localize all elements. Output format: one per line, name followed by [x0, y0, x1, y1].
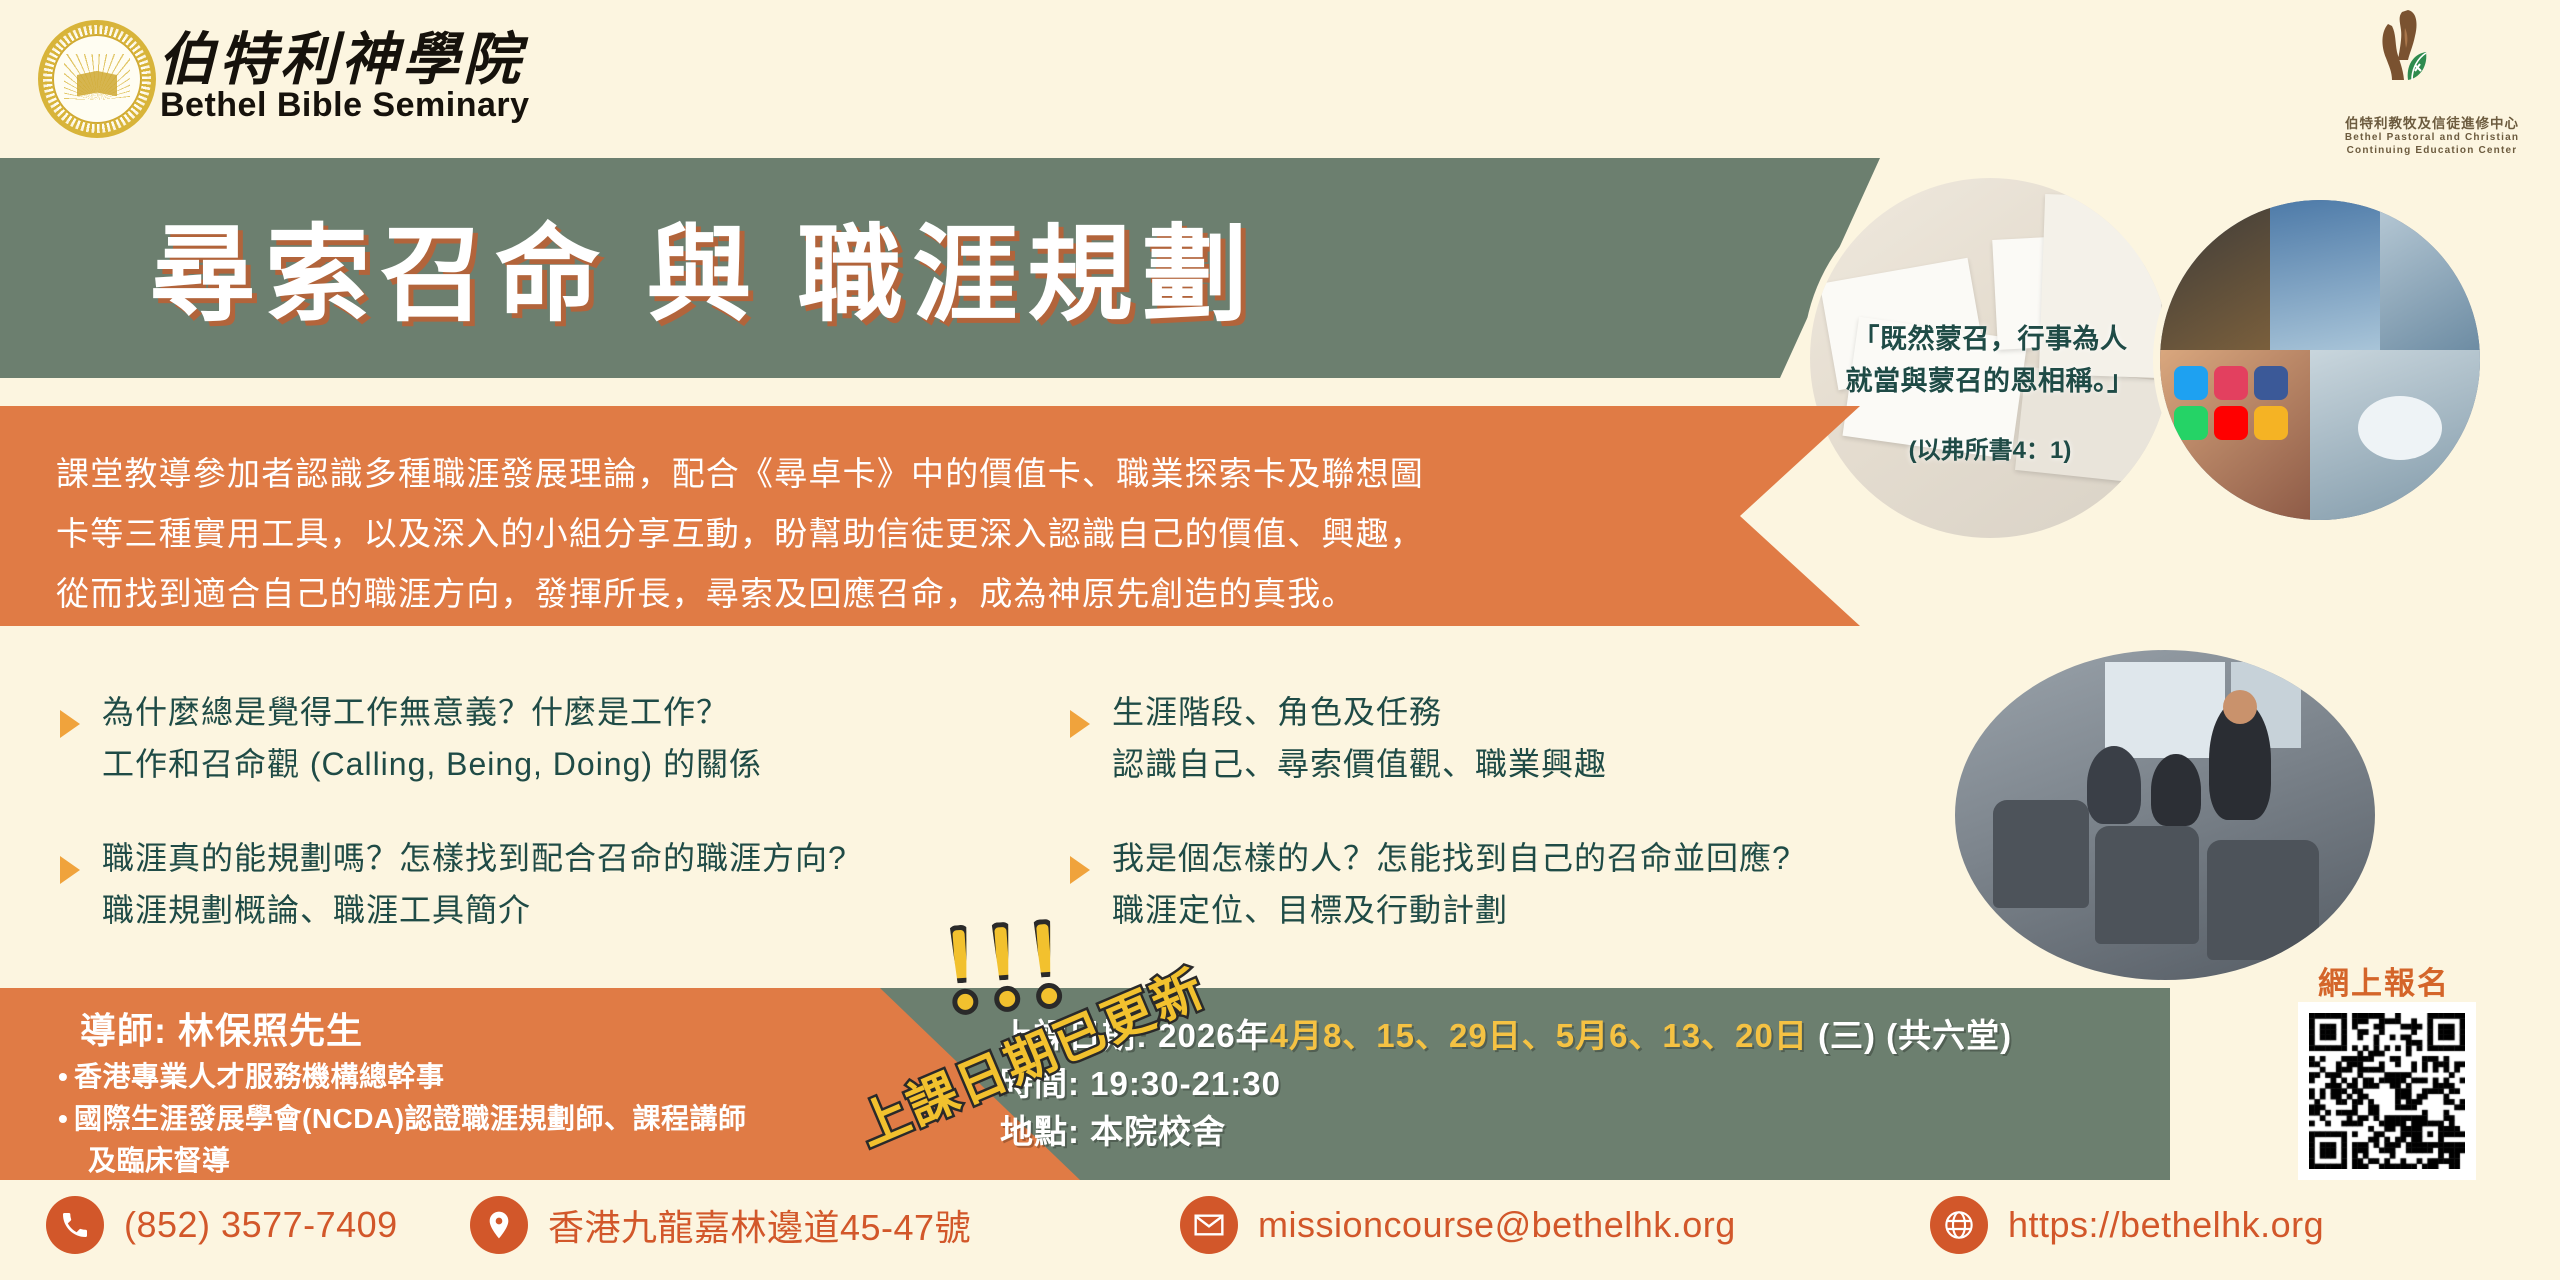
topic-text: 為什麼總是覺得工作無意義？什麼是工作？ 工作和召命觀 (Calling, Bei…: [102, 686, 762, 790]
phone-text: (852) 3577-7409: [124, 1204, 398, 1246]
collage-cell: [2160, 200, 2270, 350]
topic-line-2: 認識自己、尋索價值觀、職業興趣: [1112, 738, 1607, 790]
time-value: 19:30-21:30: [1090, 1065, 1281, 1102]
bible-seal-icon: [38, 20, 156, 138]
verse-line-1: 「既然蒙召，行事為人: [1810, 318, 2170, 360]
seal-book-icon: [77, 70, 117, 96]
topic-line-1: 為什麼總是覺得工作無意義？什麼是工作？: [102, 686, 762, 738]
verse-photo: 「既然蒙召，行事為人 就當與蒙召的恩相稱。」 (以弗所書4：1): [1810, 178, 2170, 538]
time-label: 時間:: [1000, 1065, 1080, 1102]
collage-icon: [2174, 406, 2208, 440]
schedule-time-row: 時間: 19:30-21:30: [1000, 1060, 2012, 1108]
header: 伯特利神學院 Bethel Bible Seminary 伯特利教牧及信徒進修中…: [0, 0, 2560, 158]
schedule-details: 上課日期: 2026年4月8、15、29日、5月6、13、20日 (三) (共六…: [1000, 1012, 2012, 1156]
topic-line-2: 工作和召命觀 (Calling, Being, Doing) 的關係: [102, 738, 762, 790]
topic-line-1: 生涯階段、角色及任務: [1112, 686, 1607, 738]
credential-item: •香港專業人才服務機構總幹事: [58, 1056, 747, 1098]
topic-line-1: 我是個怎樣的人？怎能找到自己的召命並回應?: [1112, 832, 1791, 884]
collage-icon: [2254, 366, 2288, 400]
contact-email[interactable]: missioncourse@bethelhk.org: [1180, 1196, 1736, 1254]
collage-shape: [2358, 396, 2442, 460]
collage-icon: [2254, 406, 2288, 440]
footer-contact-bar: (852) 3577-7409 香港九龍嘉林邊道45-47號 missionco…: [0, 1180, 2560, 1280]
description-text: 課堂教導參加者認識多種職涯發展理論，配合《尋卓卡》中的價值卡、職業探索卡及聯想圖…: [56, 444, 1756, 624]
description-line-3: 從而找到適合自己的職涯方向，發揮所長，尋索及回應召命，成為神原先創造的真我。: [56, 564, 1756, 624]
dot-bullet-icon: •: [58, 1056, 74, 1098]
chair-decor: [1993, 800, 2089, 908]
seal-rays: [64, 54, 130, 100]
website-text: https://bethelhk.org: [2008, 1204, 2324, 1246]
collage-cell: [2270, 200, 2380, 350]
credential-text: 國際生涯發展學會(NCDA)認證職涯規劃師、課程講師: [74, 1103, 747, 1134]
address-text: 香港九龍嘉林邊道45-47號: [548, 1199, 971, 1251]
topic-line-1: 職涯真的能規劃嗎？怎樣找到配合召命的職涯方向?: [102, 832, 847, 884]
centre-name-en-line2: Continuing Education Center: [2312, 145, 2552, 156]
page-title: 尋索召命 與 職涯規劃: [150, 190, 1258, 342]
date-suffix: (三) (共六堂): [1818, 1017, 2012, 1054]
hands-leaf-cross-icon: [2368, 8, 2432, 86]
triangle-bullet-icon: [1070, 710, 1090, 738]
verse-text: 「既然蒙召，行事為人 就當與蒙召的恩相稱。」: [1810, 318, 2170, 402]
schedule-date-row: 上課日期: 2026年4月8、15、29日、5月6、13、20日 (三) (共六…: [1000, 1012, 2012, 1060]
description-line-1: 課堂教導參加者認識多種職涯發展理論，配合《尋卓卡》中的價值卡、職業探索卡及聯想圖: [56, 444, 1756, 504]
centre-name-cn: 伯特利教牧及信徒進修中心: [2312, 112, 2552, 132]
email-text: missioncourse@bethelhk.org: [1258, 1204, 1736, 1246]
description-line-2: 卡等三種實用工具，以及深入的小組分享互動，盼幫助信徒更深入認識自己的價值、興趣，: [56, 504, 1756, 564]
location-pin-icon: [470, 1196, 528, 1254]
globe-icon: [1930, 1196, 1988, 1254]
contact-phone[interactable]: (852) 3577-7409: [46, 1196, 398, 1254]
seminary-name-cn: 伯特利神學院: [158, 14, 524, 96]
person-head-decor: [2223, 690, 2257, 724]
verse-reference: (以弗所書4：1): [1810, 430, 2170, 465]
collage-icon: [2214, 366, 2248, 400]
topic-text: 生涯階段、角色及任務 認識自己、尋索價值觀、職業興趣: [1112, 686, 1607, 790]
topic-line-2: 職涯規劃概論、職涯工具簡介: [102, 884, 847, 936]
registration-title: 網上報名: [2254, 958, 2514, 1003]
instructor-title: 導師: 林保照先生: [80, 1002, 363, 1054]
topic-item-right-1: 生涯階段、角色及任務 認識自己、尋索價值觀、職業興趣: [1070, 686, 1607, 790]
date-highlight: 4月8、15、29日、5月6、13、20日: [1270, 1017, 1808, 1054]
topic-item-right-2: 我是個怎樣的人？怎能找到自己的召命並回應? 職涯定位、目標及行動計劃: [1070, 832, 1791, 936]
chair-decor: [2207, 840, 2319, 960]
chair-decor: [2095, 826, 2199, 944]
triangle-bullet-icon: [60, 856, 80, 884]
topics-list: 為什麼總是覺得工作無意義？什麼是工作？ 工作和召命觀 (Calling, Bei…: [0, 660, 1960, 990]
verse-line-2: 就當與蒙召的恩相稱。」: [1810, 360, 2170, 402]
person-decor: [2151, 754, 2201, 826]
triangle-bullet-icon: [1070, 856, 1090, 884]
envelope-icon: [1180, 1196, 1238, 1254]
collage-icon: [2214, 406, 2248, 440]
topic-item-left-2: 職涯真的能規劃嗎？怎樣找到配合召命的職涯方向? 職涯規劃概論、職涯工具簡介: [60, 832, 847, 936]
collage-cell: [2380, 200, 2480, 350]
centre-name-en-line1: Bethel Pastoral and Christian: [2312, 132, 2552, 143]
triangle-bullet-icon: [60, 710, 80, 738]
credential-item: •國際生涯發展學會(NCDA)認證職涯規劃師、課程講師: [58, 1098, 747, 1140]
dot-bullet-icon: •: [58, 1098, 74, 1140]
classroom-photo: [1955, 650, 2375, 980]
date-year: 2026年: [1158, 1017, 1269, 1054]
topic-text: 職涯真的能規劃嗎？怎樣找到配合召命的職涯方向? 職涯規劃概論、職涯工具簡介: [102, 832, 847, 936]
phone-icon: [46, 1196, 104, 1254]
contact-website[interactable]: https://bethelhk.org: [1930, 1196, 2324, 1254]
credential-text: 香港專業人才服務機構總幹事: [74, 1061, 445, 1092]
seminary-name-en: Bethel Bible Seminary: [160, 86, 530, 125]
collage-photo: [2160, 200, 2480, 520]
venue-value: 本院校舍: [1090, 1113, 1226, 1150]
window-decor: [2105, 662, 2225, 758]
topic-item-left-1: 為什麼總是覺得工作無意義？什麼是工作？ 工作和召命觀 (Calling, Bei…: [60, 686, 762, 790]
qr-code-icon[interactable]: [2298, 1002, 2476, 1180]
poster-root: 伯特利神學院 Bethel Bible Seminary 伯特利教牧及信徒進修中…: [0, 0, 2560, 1280]
collage-icon: [2174, 366, 2208, 400]
person-decor: [2087, 746, 2141, 824]
topic-text: 我是個怎樣的人？怎能找到自己的召命並回應? 職涯定位、目標及行動計劃: [1112, 832, 1791, 936]
qr-canvas[interactable]: [2309, 1013, 2465, 1169]
instructor-credentials: •香港專業人才服務機構總幹事 •國際生涯發展學會(NCDA)認證職涯規劃師、課程…: [58, 1056, 747, 1182]
topic-line-2: 職涯定位、目標及行動計劃: [1112, 884, 1791, 936]
date-label: 上課日期:: [1000, 1017, 1148, 1054]
schedule-venue-row: 地點: 本院校舍: [1000, 1108, 2012, 1156]
venue-label: 地點:: [1000, 1113, 1080, 1150]
credential-item-cont: 及臨床督導: [58, 1140, 747, 1182]
contact-address[interactable]: 香港九龍嘉林邊道45-47號: [470, 1196, 971, 1254]
